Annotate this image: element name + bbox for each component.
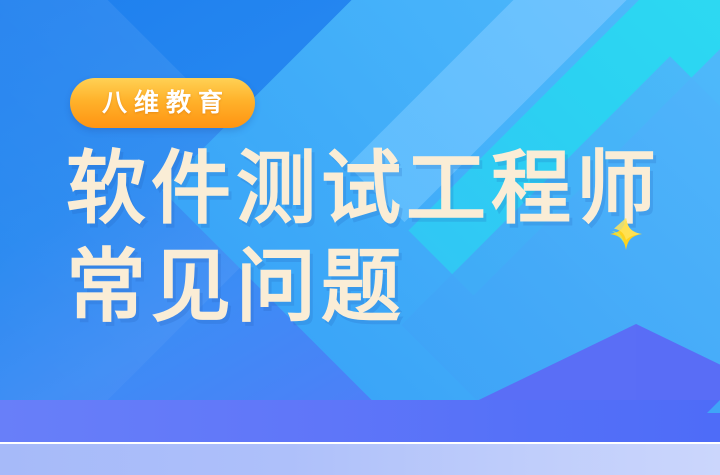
sparkle-star-icon (610, 218, 642, 250)
bottom-lavender-band (0, 444, 720, 475)
bottom-purple-band (0, 400, 720, 442)
brand-badge-label: 八维教育 (95, 91, 230, 116)
headline-line-2: 常见问题 (66, 238, 706, 336)
brand-badge: 八维教育 (70, 78, 255, 128)
poster-canvas: 八维教育 软件测试工程师 常见问题 (0, 0, 720, 475)
bottom-band-bevel-shape (707, 400, 720, 413)
